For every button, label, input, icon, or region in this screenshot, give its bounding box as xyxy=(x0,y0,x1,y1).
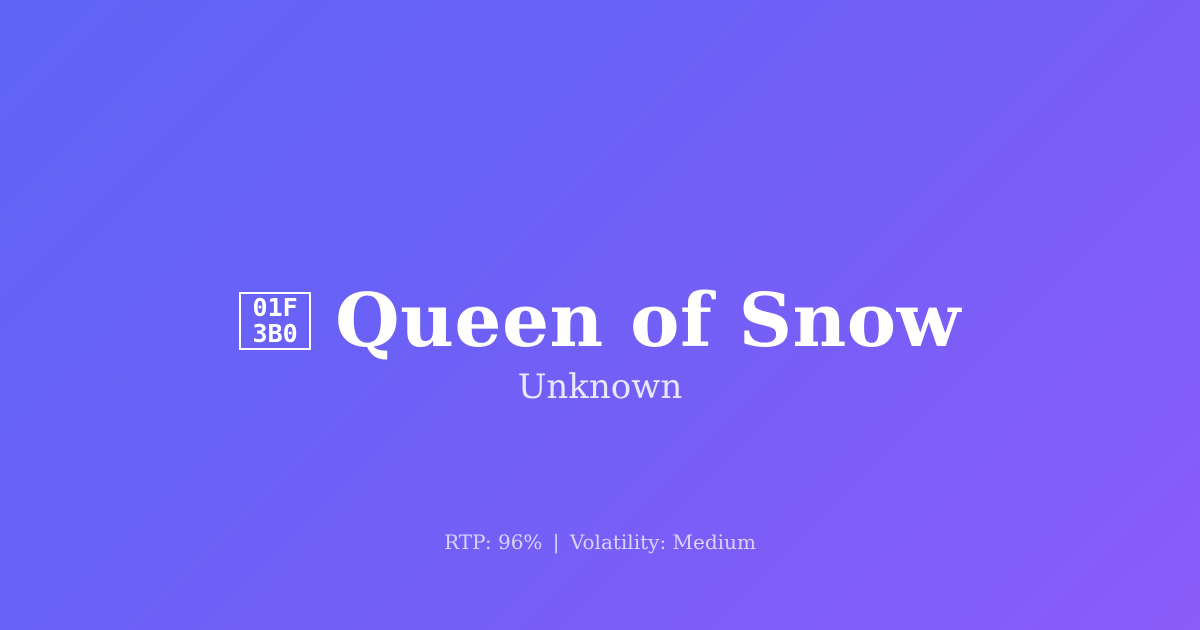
volatility-label: Volatility: xyxy=(570,530,666,554)
game-meta-line: RTP: 96% | Volatility: Medium xyxy=(0,529,1200,555)
page-title: Queen of Snow xyxy=(335,282,961,360)
meta-separator: | xyxy=(549,530,564,554)
tofu-codepoint-bottom: 3B0 xyxy=(253,321,298,347)
game-preview-card: 01F 3B0 Queen of Snow Unknown RTP: 96% |… xyxy=(0,0,1200,630)
rtp-label: RTP: xyxy=(444,530,492,554)
tofu-codepoint-top: 01F xyxy=(253,295,298,321)
rtp-value: 96% xyxy=(498,530,542,554)
volatility-value: Medium xyxy=(673,530,756,554)
slot-machine-icon: 01F 3B0 xyxy=(239,292,311,350)
provider-subtitle: Unknown xyxy=(0,366,1200,408)
